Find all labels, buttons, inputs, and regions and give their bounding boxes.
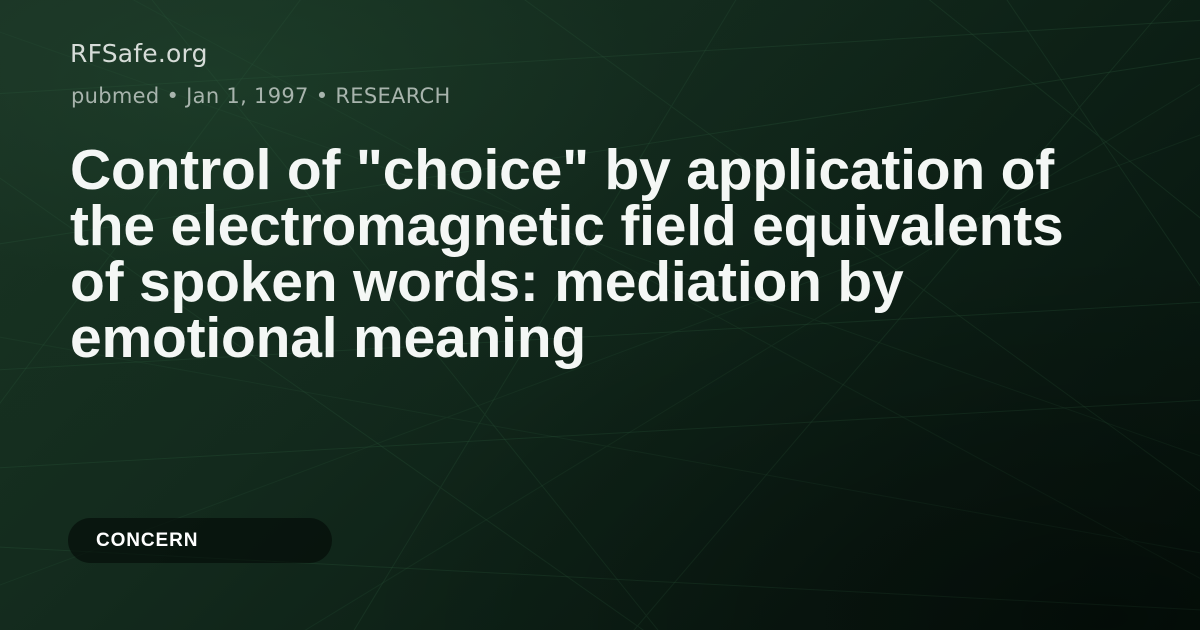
status-badge: CONCERN xyxy=(68,518,332,563)
article-meta: pubmed•Jan 1, 1997•RESEARCH xyxy=(71,84,451,109)
meta-category: RESEARCH xyxy=(335,84,450,108)
meta-separator-1: • xyxy=(159,84,186,108)
card-content: RFSafe.org pubmed•Jan 1, 1997•RESEARCH C… xyxy=(70,0,1130,630)
meta-source: pubmed xyxy=(71,84,159,108)
site-name: RFSafe.org xyxy=(70,40,208,68)
social-share-card: RFSafe.org pubmed•Jan 1, 1997•RESEARCH C… xyxy=(0,0,1200,630)
article-headline: Control of "choice" by application of th… xyxy=(70,142,1080,366)
meta-date: Jan 1, 1997 xyxy=(186,84,309,108)
badge-container: CONCERN xyxy=(68,518,332,563)
status-badge-label: CONCERN xyxy=(94,530,306,552)
meta-separator-2: • xyxy=(309,84,336,108)
